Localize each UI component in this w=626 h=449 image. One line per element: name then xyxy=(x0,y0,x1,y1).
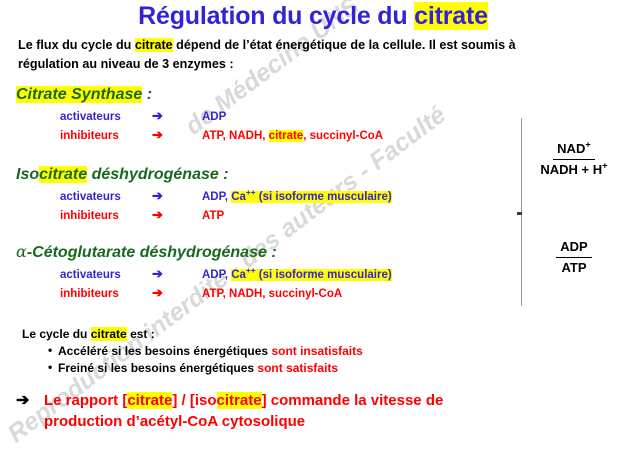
ratio-denominator: NADH + H+ xyxy=(524,160,624,179)
bracket-tick xyxy=(517,212,522,215)
summary-heading: Le cycle du citrate est : xyxy=(22,327,363,341)
intro-line2: régulation au niveau de 3 enzymes : xyxy=(18,55,608,74)
ratio-denominator: ATP xyxy=(532,258,616,277)
intro-highlight: citrate xyxy=(135,38,173,52)
summary-list: Accéléré si les besoins énergétiques son… xyxy=(22,344,363,375)
activators-label: activateurs xyxy=(60,269,152,281)
enzyme-name-isocitrate-deshydrogenase: Isocitrate déshydrogénase : xyxy=(16,166,392,184)
activators-highlight: Ca++ (si isoforme musculaire) xyxy=(231,269,391,281)
enzyme-name-highlight: Citrate Synthase xyxy=(16,86,142,103)
ratio-nad: NAD+ NADH + H+ xyxy=(524,140,624,179)
conclusion-b: ] / [iso xyxy=(172,392,216,409)
isoform-note: (si isoforme musculaire) xyxy=(256,191,392,203)
intro-paragraph: Le flux du cycle du citrate dépend de l’… xyxy=(18,36,608,74)
activators-label: activateurs xyxy=(60,111,152,123)
arrow-right-icon: ➔ xyxy=(152,208,202,221)
bullet-text: Freiné si les besoins énergétiques xyxy=(58,361,257,375)
inhibitors-value: ATP, NADH, citrate, succinyl-CoA xyxy=(202,130,383,142)
activators-pre: ADP, xyxy=(202,191,231,203)
activators-value: ADP, Ca++ (si isoforme musculaire) xyxy=(202,191,392,203)
arrow-right-icon: ➔ xyxy=(152,109,202,122)
enzyme-name-alpha-cetoglutarate-deshydrogenase: α-Cétoglutarate déshydrogénase : xyxy=(16,242,392,262)
inhibitors-value: ATP, NADH, succinyl-CoA xyxy=(202,288,342,300)
enzyme-block-alpha-cetoglutarate-deshydrogenase: α-Cétoglutarate déshydrogénase : activat… xyxy=(16,242,392,300)
ratio-denominator-charge: + xyxy=(602,161,607,171)
ratio-numerator: ADP xyxy=(556,238,591,258)
bullet-emphasis: sont insatisfaits xyxy=(271,344,362,358)
inhibitors-highlight: citrate xyxy=(269,130,304,142)
arrow-right-icon: ➔ xyxy=(16,390,29,411)
summary-heading-b: est : xyxy=(127,327,155,341)
title-highlight: citrate xyxy=(414,2,488,30)
ratio-numerator-charge: + xyxy=(585,140,590,150)
conclusion-highlight-1: citrate xyxy=(127,392,172,409)
conclusion-line2: production d’acétyl-CoA cytosolique xyxy=(44,411,604,432)
intro-text-a: Le flux du cycle du xyxy=(18,38,135,52)
inhibitors-value: ATP xyxy=(202,210,224,222)
enzyme-block-citrate-synthase: Citrate Synthase : activateurs ➔ ADP inh… xyxy=(16,86,383,142)
calcium-ion: Ca xyxy=(231,269,246,281)
inhibitors-row-2: inhibiteurs ➔ ATP xyxy=(60,208,392,222)
inhibitors-label: inhibiteurs xyxy=(60,288,152,300)
inhibitors-label: inhibiteurs xyxy=(60,210,152,222)
enzyme-name-suffix: -Cétoglutarate déshydrogénase : xyxy=(27,244,277,261)
conclusion-text: Le rapport [citrate] / [isocitrate] comm… xyxy=(44,390,604,432)
enzyme-block-isocitrate-deshydrogenase: Isocitrate déshydrogénase : activateurs … xyxy=(16,166,392,222)
intro-text-b: dépend de l’état énergétique de la cellu… xyxy=(173,38,516,52)
isoform-note: (si isoforme musculaire) xyxy=(256,269,392,281)
conclusion-a: Le rapport [ xyxy=(44,392,127,409)
summary-block: Le cycle du citrate est : Accéléré si le… xyxy=(22,327,363,375)
arrow-right-icon: ➔ xyxy=(152,189,202,202)
conclusion-highlight-2: citrate xyxy=(217,392,262,409)
inhibitors-pre: ATP, NADH, xyxy=(202,130,269,142)
inhibitors-label: inhibiteurs xyxy=(60,130,152,142)
enzyme-name-highlight: citrate xyxy=(39,166,87,183)
arrow-right-icon: ➔ xyxy=(152,286,202,299)
summary-heading-highlight: citrate xyxy=(91,327,127,341)
list-item: Accéléré si les besoins énergétiques son… xyxy=(48,344,363,358)
calcium-charge: ++ xyxy=(246,266,256,275)
page-title: Régulation du cycle du citrate xyxy=(0,2,626,31)
conclusion-c: ] commande la vitesse de xyxy=(262,392,444,409)
enzyme-name-citrate-synthase: Citrate Synthase : xyxy=(16,86,383,104)
enzyme-name-prefix: Iso xyxy=(16,166,39,183)
activators-value: ADP, Ca++ (si isoforme musculaire) xyxy=(202,269,392,281)
activators-highlight: Ca++ (si isoforme musculaire) xyxy=(231,191,391,203)
inhibitors-row-3: inhibiteurs ➔ ATP, NADH, succinyl-CoA xyxy=(60,286,392,300)
summary-heading-a: Le cycle du xyxy=(22,327,91,341)
activators-pre: ADP, xyxy=(202,269,231,281)
alpha-symbol: α xyxy=(16,242,27,261)
bullet-emphasis: sont satisfaits xyxy=(257,361,338,375)
activators-label: activateurs xyxy=(60,191,152,203)
bullet-text: Accéléré si les besoins énergétiques xyxy=(58,344,271,358)
ratio-denominator-text: NADH + H xyxy=(540,162,602,177)
inhibitors-post: , succinyl-CoA xyxy=(303,130,383,142)
ratio-adp: ADP ATP xyxy=(532,238,616,277)
calcium-charge: ++ xyxy=(246,188,256,197)
list-item: Freiné si les besoins énergétiques sont … xyxy=(48,361,363,375)
title-text: Régulation du cycle du xyxy=(138,2,414,30)
activators-value: ADP xyxy=(202,111,226,123)
enzyme-name-suffix: déshydrogénase : xyxy=(87,166,228,183)
conclusion-block: ➔ Le rapport [citrate] / [isocitrate] co… xyxy=(16,390,604,432)
activators-row-3: activateurs ➔ ADP, Ca++ (si isoforme mus… xyxy=(60,267,392,281)
calcium-ion: Ca xyxy=(231,191,246,203)
ratio-numerator: NAD+ xyxy=(553,140,595,160)
activators-row-2: activateurs ➔ ADP, Ca++ (si isoforme mus… xyxy=(60,189,392,203)
arrow-right-icon: ➔ xyxy=(152,267,202,280)
activators-row-1: activateurs ➔ ADP xyxy=(60,109,383,123)
enzyme-name-suffix: : xyxy=(142,86,152,103)
inhibitors-row-1: inhibiteurs ➔ ATP, NADH, citrate, succin… xyxy=(60,128,383,142)
arrow-right-icon: ➔ xyxy=(152,128,202,141)
ratio-numerator-text: NAD xyxy=(557,141,585,156)
slide: Reproduction interdite - des auteurs - F… xyxy=(0,0,626,437)
